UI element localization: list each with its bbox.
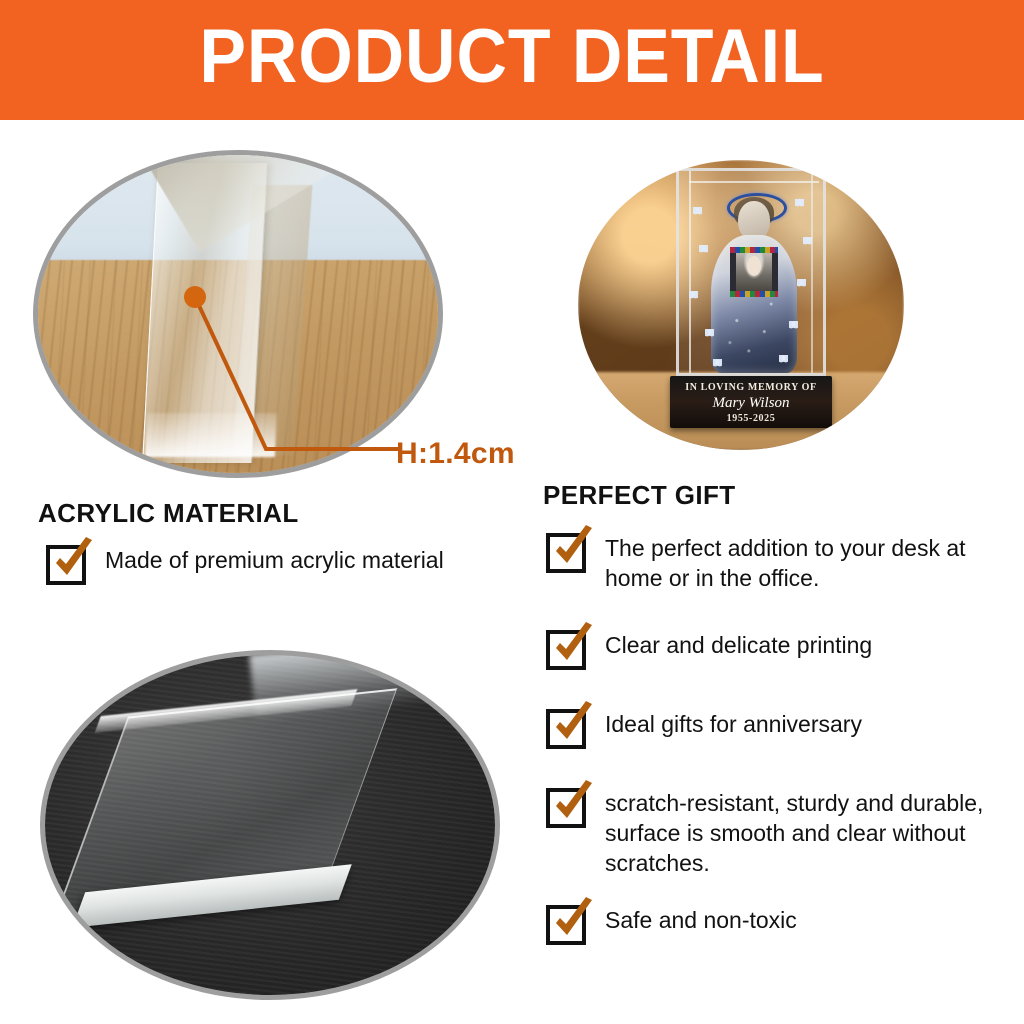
checkbox-checked-icon — [546, 630, 586, 670]
butterfly-icon — [795, 199, 804, 207]
butterfly-icon — [789, 321, 798, 329]
checkmark-icon — [548, 896, 598, 946]
butterfly-icon — [705, 329, 714, 337]
acrylic-block-photo — [45, 655, 495, 995]
butterfly-icon — [693, 207, 702, 215]
list-item-label: Clear and delicate printing — [605, 630, 872, 660]
list-item-label: Safe and non-toxic — [605, 905, 797, 935]
plaque-line-1: IN LOVING MEMORY OF — [670, 382, 832, 393]
checkbox-checked-icon — [46, 545, 86, 585]
memorial-base-plaque: IN LOVING MEMORY OF Mary Wilson 1955-202… — [670, 376, 832, 428]
list-item-label: The perfect addition to your desk at hom… — [605, 533, 998, 593]
checkbox-checked-icon — [546, 533, 586, 573]
acrylic-display-case — [676, 168, 826, 376]
height-callout-label: H:1.4cm — [396, 437, 515, 471]
acrylic-base-highlight — [145, 413, 277, 457]
list-item-label: Ideal gifts for anniversary — [605, 709, 862, 739]
plaque-name: Mary Wilson — [670, 395, 832, 412]
height-callout-dot — [184, 286, 206, 308]
list-item: Made of premium acrylic material — [46, 545, 516, 585]
product-detail-infographic: PRODUCT DETAIL H:1.4cm — [0, 0, 1024, 1024]
header-banner: PRODUCT DETAIL — [0, 0, 1024, 120]
section-title-perfect-gift: PERFECT GIFT — [543, 480, 736, 511]
butterfly-icon — [779, 355, 788, 363]
checkmark-icon — [548, 700, 598, 750]
butterfly-icon — [699, 245, 708, 253]
checkmark-icon — [48, 536, 98, 586]
portrait-photo — [736, 253, 772, 291]
checkmark-icon — [548, 779, 598, 829]
checkmark-icon — [548, 621, 598, 671]
list-item: Safe and non-toxic — [546, 905, 998, 945]
checkmark-icon — [548, 524, 598, 574]
checkbox-checked-icon — [546, 709, 586, 749]
butterfly-icon — [803, 237, 812, 245]
checkbox-checked-icon — [546, 905, 586, 945]
list-item: Clear and delicate printing — [546, 630, 998, 670]
list-item: Ideal gifts for anniversary — [546, 709, 998, 749]
list-item: scratch-resistant, sturdy and durable, s… — [546, 788, 998, 878]
page-title: PRODUCT DETAIL — [41, 14, 983, 100]
butterfly-icon — [713, 359, 722, 367]
section-title-acrylic-material: ACRYLIC MATERIAL — [38, 498, 299, 529]
memorial-lamp-photo: IN LOVING MEMORY OF Mary Wilson 1955-202… — [578, 160, 904, 450]
list-item-label: scratch-resistant, sturdy and durable, s… — [605, 788, 998, 878]
acrylic-edge-photo — [38, 155, 438, 473]
jesus-figurine — [705, 187, 803, 373]
list-item: The perfect addition to your desk at hom… — [546, 533, 998, 593]
list-item-label: Made of premium acrylic material — [105, 545, 444, 575]
memorial-lamp-product: IN LOVING MEMORY OF Mary Wilson 1955-202… — [676, 168, 826, 428]
case-top-rail — [689, 181, 819, 183]
gem-photo-frame — [730, 247, 778, 297]
butterfly-icon — [689, 291, 698, 299]
butterfly-icon — [797, 279, 806, 287]
checkbox-checked-icon — [546, 788, 586, 828]
plaque-dates: 1955-2025 — [670, 413, 832, 424]
